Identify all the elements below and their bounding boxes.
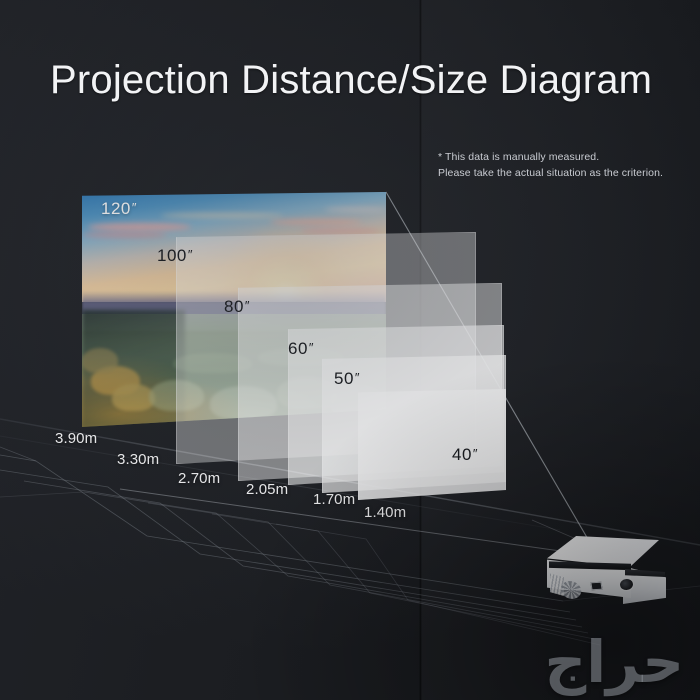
distance-label-60: 2.05m — [246, 481, 288, 498]
distance-label-80: 2.70m — [178, 470, 220, 487]
note-line-1: * This data is manually measured. — [438, 151, 599, 163]
distance-label-120: 3.90m — [55, 430, 97, 447]
note-line-2: Please take the actual situation as the … — [438, 165, 663, 181]
projector-device[interactable] — [533, 536, 669, 610]
screen-40[interactable] — [358, 389, 506, 500]
distance-label-40: 1.40m — [364, 504, 406, 521]
page-title: Projection Distance/Size Diagram — [50, 58, 652, 103]
projector-port — [590, 582, 602, 590]
diagram-canvas: 120″ 100″ 80″ 60″ 50″ 40″ 3.90m 3.30m 2.… — [0, 0, 700, 700]
measurement-note: * This data is manually measured. Please… — [438, 149, 663, 181]
distance-label-50: 1.70m — [313, 491, 355, 508]
distance-label-100: 3.30m — [117, 451, 159, 468]
